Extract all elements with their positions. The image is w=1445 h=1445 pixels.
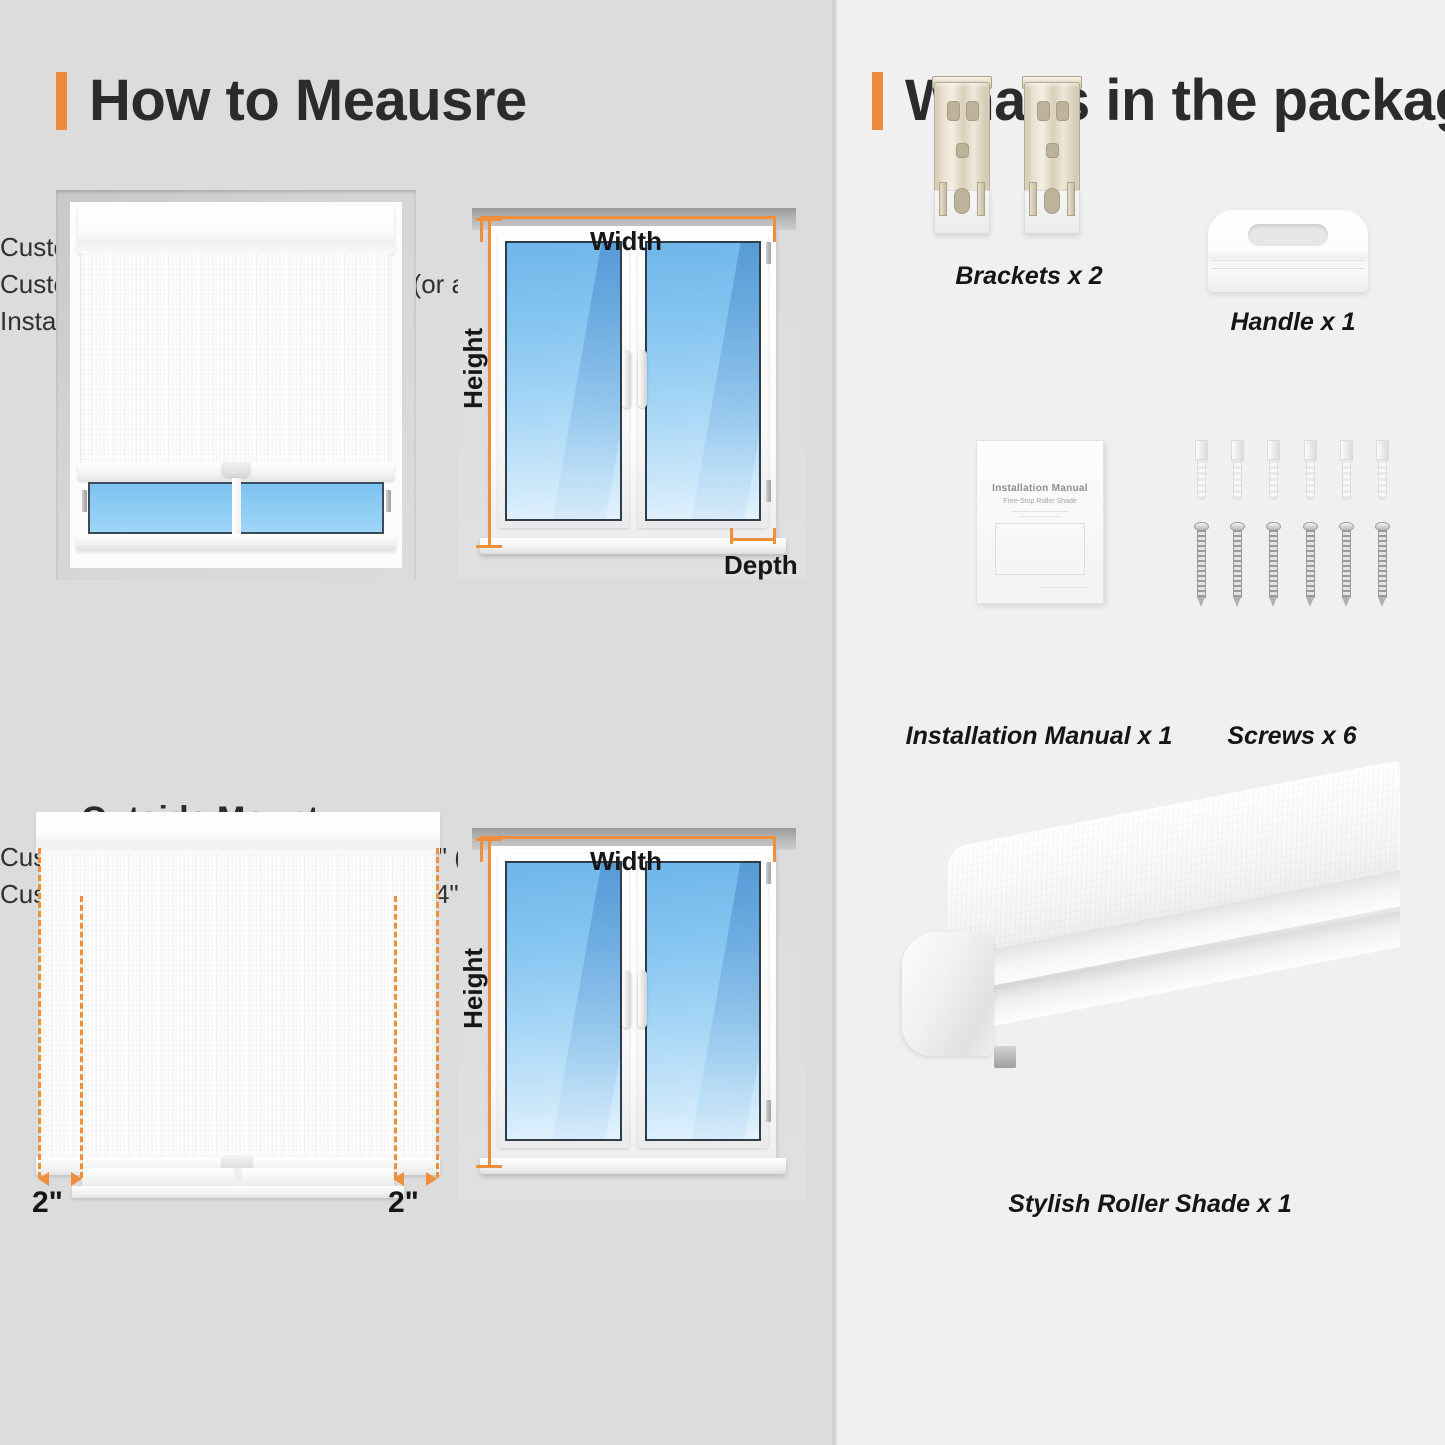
diagram-hinge-bottom-icon bbox=[766, 1100, 771, 1122]
handle-left-icon bbox=[622, 970, 631, 1028]
screw-icon bbox=[1230, 522, 1245, 606]
outside-mount-illustration: 2" 2" bbox=[36, 800, 440, 1196]
height-label: Height bbox=[458, 948, 489, 1029]
height-marker-cap-top bbox=[476, 838, 502, 841]
screw-shaft bbox=[1269, 530, 1278, 598]
screw-icon bbox=[1339, 522, 1354, 606]
bracket-hole-1 bbox=[947, 101, 960, 121]
diagram-leaf-left bbox=[498, 234, 629, 528]
bracket-icon bbox=[934, 82, 990, 234]
diagram-glass-right bbox=[645, 861, 762, 1141]
bracket-tab-left bbox=[1029, 182, 1037, 216]
diagram-hinge-top-icon bbox=[766, 862, 771, 884]
wall-anchor-icon bbox=[1194, 440, 1209, 500]
screw-icon bbox=[1266, 522, 1281, 606]
accent-bar-icon bbox=[56, 72, 67, 130]
how-to-measure-heading: How to Meausre bbox=[56, 72, 527, 130]
overhang-guide-right-outer bbox=[436, 848, 439, 1178]
screw-tip bbox=[1197, 597, 1205, 607]
anchor-head bbox=[1340, 440, 1353, 461]
screw-icon bbox=[1375, 522, 1390, 606]
overhang-guide-left-inner bbox=[80, 896, 83, 1178]
handle-icon bbox=[1208, 210, 1368, 292]
heading-text: How to Meausre bbox=[89, 72, 527, 130]
anchor-head bbox=[1304, 440, 1317, 461]
height-marker-cap-bottom bbox=[476, 1165, 502, 1168]
screw-tip bbox=[1269, 597, 1277, 607]
anchor-head bbox=[1195, 440, 1208, 461]
bracket-center-slot bbox=[954, 188, 970, 214]
anchor-body bbox=[1233, 459, 1242, 500]
outside-mount-measure-diagram: Width Height bbox=[458, 822, 806, 1200]
glass-pane-left bbox=[88, 482, 234, 534]
diagram-hinge-top-icon bbox=[766, 242, 771, 264]
depth-marker-cap-inner bbox=[730, 528, 733, 544]
window-sill bbox=[76, 534, 396, 550]
bracket-icon bbox=[1024, 82, 1080, 234]
package-item-handle: Handle x 1 bbox=[1168, 82, 1418, 282]
wall-anchor-icon bbox=[1230, 440, 1245, 500]
window-center-post bbox=[232, 478, 241, 540]
anchor-row bbox=[1194, 440, 1390, 504]
screws-label: Screws x 6 bbox=[1184, 722, 1400, 751]
depth-label: Depth bbox=[724, 550, 798, 581]
width-label: Width bbox=[590, 846, 662, 877]
window-apron-outside bbox=[72, 1186, 404, 1198]
screw-shaft bbox=[1197, 530, 1206, 598]
width-marker-line bbox=[480, 836, 776, 839]
overhang-guide-left-outer bbox=[38, 848, 41, 1178]
diagram-hinge-bottom-icon bbox=[766, 480, 771, 502]
anchor-body bbox=[1306, 459, 1315, 500]
arrow-right-icon bbox=[71, 1172, 82, 1186]
screw-tip bbox=[1233, 597, 1241, 607]
diagram-window-handles bbox=[622, 350, 647, 408]
manual-cover-title: Installation Manual bbox=[977, 483, 1103, 494]
package-item-manual: Installation Manual Free-Stop Roller Sha… bbox=[894, 440, 1184, 710]
screw-shaft bbox=[1342, 530, 1351, 598]
bracket-tab-right bbox=[977, 182, 985, 216]
screw-row bbox=[1194, 522, 1390, 610]
diagram-sill bbox=[480, 1158, 786, 1174]
shade-fabric-outside bbox=[40, 853, 436, 1161]
bracket-tab-left bbox=[939, 182, 947, 216]
outside-mount-section: 2" 2" bbox=[0, 800, 573, 913]
roller-shade-icon bbox=[900, 840, 1400, 1130]
arrow-right-icon bbox=[426, 1172, 437, 1186]
anchor-body bbox=[1342, 459, 1351, 500]
diagram-leaf-right bbox=[638, 234, 769, 528]
depth-marker-line bbox=[730, 538, 776, 541]
shade-headrail bbox=[78, 206, 394, 254]
bracket-hole-2 bbox=[966, 101, 979, 121]
screw-tip bbox=[1306, 597, 1314, 607]
width-marker-cap-right bbox=[773, 216, 776, 242]
handle-ridge-1 bbox=[1212, 260, 1364, 261]
bracket-tab-right bbox=[1067, 182, 1075, 216]
arrow-left-icon bbox=[393, 1172, 404, 1186]
overhang-arrows-right bbox=[393, 1172, 437, 1186]
overhang-arrows-left bbox=[38, 1172, 82, 1186]
screw-shaft bbox=[1378, 530, 1387, 598]
overhang-guide-right-inner bbox=[394, 896, 397, 1178]
package-item-screws: Screws x 6 bbox=[1184, 440, 1434, 710]
handle-left-icon bbox=[622, 350, 631, 408]
wall-anchor-icon bbox=[1339, 440, 1354, 500]
handle-label: Handle x 1 bbox=[1168, 308, 1418, 337]
bracket-body bbox=[1024, 82, 1080, 198]
wall-anchor-icon bbox=[1266, 440, 1281, 500]
bracket-hole-3 bbox=[956, 143, 969, 158]
wall-anchor-icon bbox=[1375, 440, 1390, 500]
window-hinge-left-icon bbox=[82, 490, 87, 512]
height-marker-cap-top bbox=[476, 218, 502, 221]
diagram-leaf-right bbox=[638, 854, 769, 1148]
screw-icon bbox=[1303, 522, 1318, 606]
handle-right-icon bbox=[638, 350, 647, 408]
how-to-measure-panel: How to Meausre bbox=[0, 0, 838, 1445]
overhang-label-right: 2" bbox=[388, 1186, 419, 1220]
handle-ridge-2 bbox=[1212, 268, 1364, 269]
window-hinge-right-icon bbox=[386, 490, 391, 512]
screw-tip bbox=[1378, 597, 1386, 607]
anchor-head bbox=[1267, 440, 1280, 461]
screw-shaft bbox=[1306, 530, 1315, 598]
roller-shade-end-pin bbox=[994, 1046, 1016, 1068]
anchor-head bbox=[1376, 440, 1389, 461]
diagram-window-handles bbox=[622, 970, 647, 1028]
roller-shade-end-cap bbox=[902, 932, 994, 1056]
shade-headrail-outside bbox=[36, 812, 440, 854]
shade-pull-tab bbox=[222, 462, 250, 477]
brackets-label: Brackets x 2 bbox=[914, 262, 1144, 291]
infographic-page: How to Meausre bbox=[0, 0, 1445, 1445]
diagram-leaf-left bbox=[498, 854, 629, 1148]
manual-footer-rule bbox=[1039, 587, 1089, 588]
shade-fabric bbox=[80, 253, 392, 465]
manual-rule-1 bbox=[1011, 511, 1069, 512]
manual-cover-figure bbox=[995, 523, 1085, 575]
inside-mount-illustration bbox=[56, 190, 416, 580]
bracket-hole-3 bbox=[1046, 143, 1059, 158]
manual-icon: Installation Manual Free-Stop Roller Sha… bbox=[976, 440, 1104, 604]
anchor-body bbox=[1269, 459, 1278, 500]
screw-shaft bbox=[1233, 530, 1242, 598]
inside-mount-measure-diagram: Width Height Depth bbox=[458, 202, 806, 580]
screw-tip bbox=[1342, 597, 1350, 607]
screw-icon bbox=[1194, 522, 1209, 606]
accent-bar-icon bbox=[872, 72, 883, 130]
overhang-label-left: 2" bbox=[32, 1186, 63, 1220]
width-label: Width bbox=[590, 226, 662, 257]
diagram-glass-left bbox=[505, 241, 622, 521]
height-marker-cap-bottom bbox=[476, 545, 502, 548]
diagram-glass-right bbox=[645, 241, 762, 521]
manual-label: Installation Manual x 1 bbox=[894, 722, 1184, 751]
roller-shade-label: Stylish Roller Shade x 1 bbox=[890, 1190, 1410, 1219]
manual-rule-2 bbox=[1019, 516, 1061, 517]
bracket-center-slot bbox=[1044, 188, 1060, 214]
arrow-left-icon bbox=[38, 1172, 49, 1186]
bracket-hole-1 bbox=[1037, 101, 1050, 121]
package-item-roller-shade: Stylish Roller Shade x 1 bbox=[890, 800, 1410, 1240]
handle-grip-slot bbox=[1248, 224, 1328, 246]
anchor-body bbox=[1197, 459, 1206, 500]
glass-pane-right bbox=[238, 482, 384, 534]
width-marker-cap-right bbox=[773, 836, 776, 862]
height-label: Height bbox=[458, 328, 489, 409]
manual-cover-subtitle: Free-Stop Roller Shade bbox=[977, 498, 1103, 505]
handle-right-icon bbox=[638, 970, 647, 1028]
depth-marker-cap-outer bbox=[773, 528, 776, 544]
width-marker-line bbox=[480, 216, 776, 219]
anchor-body bbox=[1378, 459, 1387, 500]
inside-mount-section: Width Height Depth Inside Mount Custom W… bbox=[0, 190, 608, 340]
package-item-brackets: Brackets x 2 bbox=[914, 82, 1144, 282]
bracket-hole-2 bbox=[1056, 101, 1069, 121]
bracket-body bbox=[934, 82, 990, 198]
wall-anchor-icon bbox=[1303, 440, 1318, 500]
diagram-glass-left bbox=[505, 861, 622, 1141]
anchor-head bbox=[1231, 440, 1244, 461]
package-contents-panel: What's in the package bbox=[838, 0, 1445, 1445]
